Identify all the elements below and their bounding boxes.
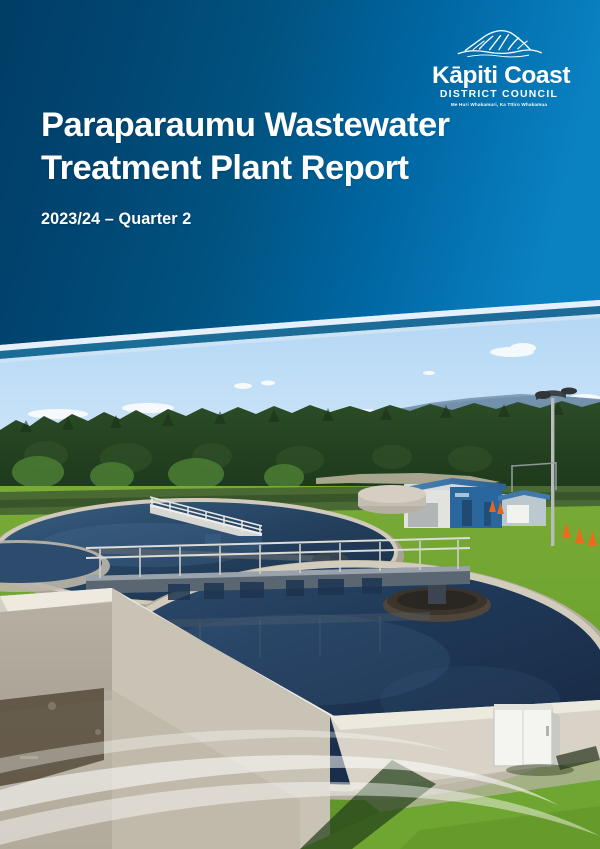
title-block: Paraparaumu Wastewater Treatment Plant R… <box>41 104 491 229</box>
logo-wordmark: Kāpiti Coast <box>432 63 566 88</box>
kapiti-coast-district-council-logo: Kāpiti Coast DISTRICT COUNCIL Me Huri Wh… <box>432 26 566 107</box>
logo-organisation: DISTRICT COUNCIL <box>432 90 566 100</box>
document-subtitle: 2023/24 – Quarter 2 <box>41 210 491 229</box>
report-cover-page: Kāpiti Coast DISTRICT COUNCIL Me Huri Wh… <box>0 0 600 849</box>
document-title-line-2: Treatment Plant Report <box>41 149 408 187</box>
kapiti-island-mountain-mark <box>452 26 546 60</box>
document-title: Paraparaumu Wastewater Treatment Plant R… <box>41 104 491 190</box>
document-title-line-1: Paraparaumu Wastewater <box>41 106 449 144</box>
